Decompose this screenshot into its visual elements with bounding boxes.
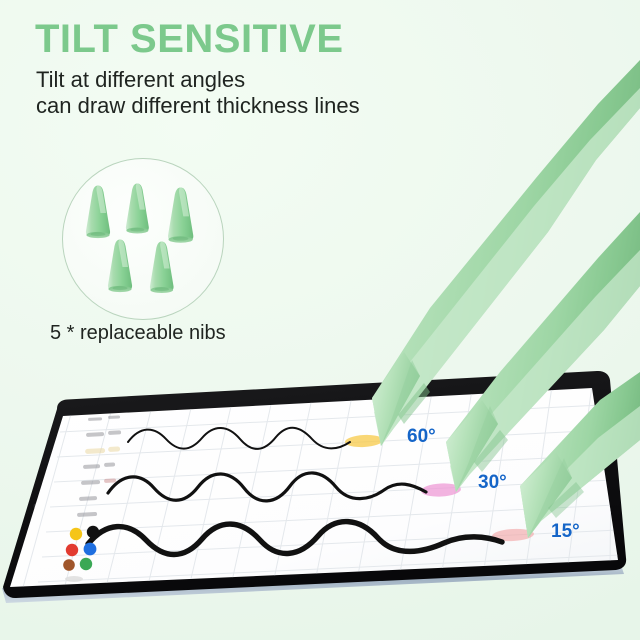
- nib-4: [108, 240, 132, 293]
- angle-label-60: 60°: [407, 426, 436, 448]
- nib-1: [86, 186, 110, 239]
- replaceable-nibs-circle: [62, 158, 224, 320]
- swatch-green[interactable]: [80, 558, 92, 570]
- swatch-red[interactable]: [66, 544, 78, 556]
- nib-3: [168, 188, 193, 243]
- swatch-brown[interactable]: [63, 559, 75, 571]
- nib-5: [150, 241, 174, 293]
- swatch-black[interactable]: [87, 526, 99, 538]
- subtitle-line-2: can draw different thickness lines: [36, 92, 360, 120]
- tablet-device: [0, 360, 640, 640]
- product-marketing-image: TILT SENSITIVE Tilt at different angles …: [0, 0, 640, 640]
- swatch-blue[interactable]: [84, 543, 97, 556]
- angle-label-30: 30°: [478, 472, 507, 494]
- swatch-yellow[interactable]: [70, 528, 82, 540]
- nibs-group: [63, 159, 223, 319]
- nibs-caption: 5 * replaceable nibs: [50, 322, 226, 345]
- palette-tray: [65, 576, 83, 582]
- nib-2: [126, 183, 149, 233]
- page-title: TILT SENSITIVE: [35, 18, 344, 60]
- subtitle-line-1: Tilt at different angles: [36, 66, 245, 94]
- angle-label-15: 15°: [551, 521, 580, 543]
